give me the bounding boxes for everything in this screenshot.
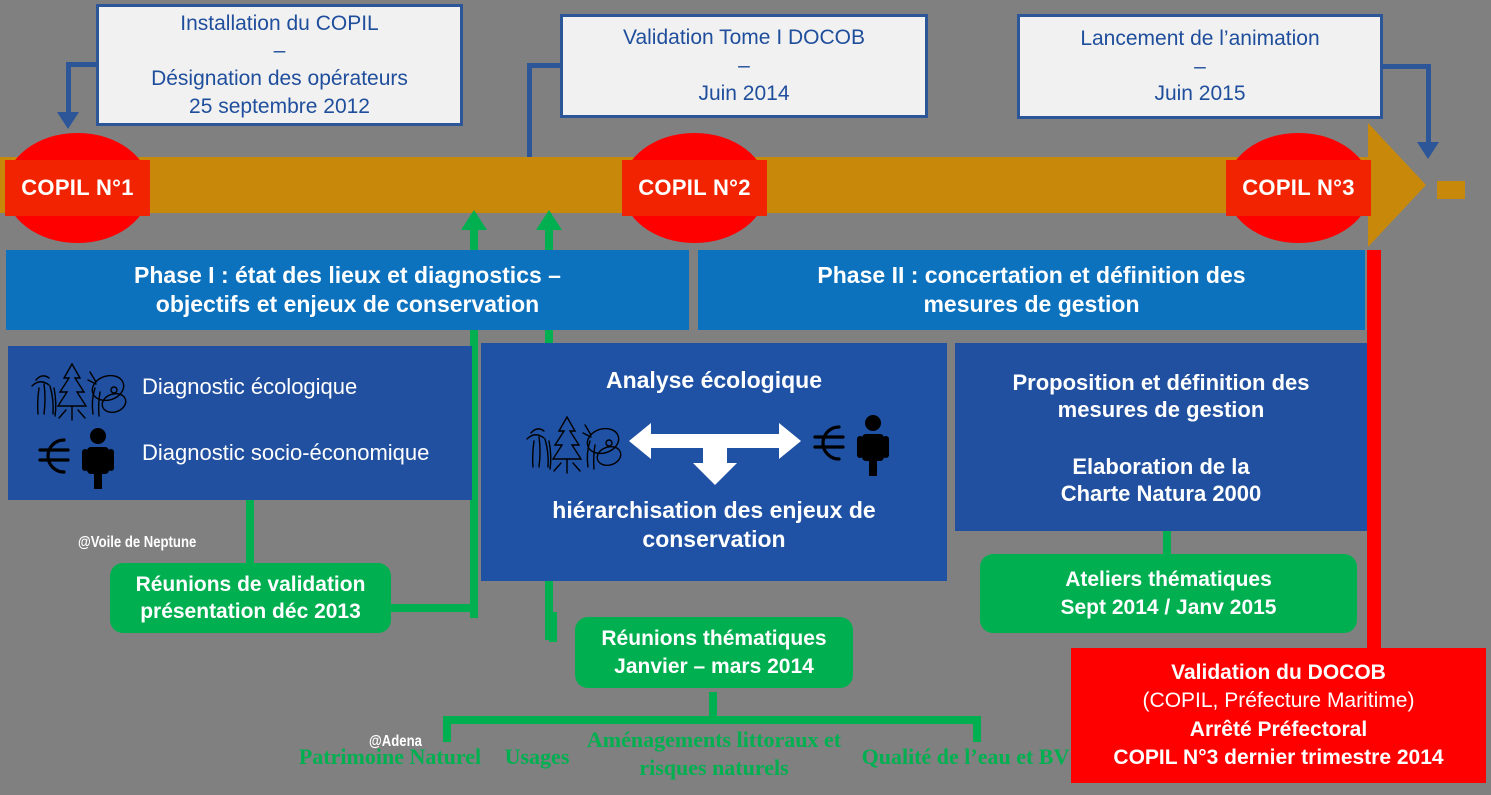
callout-3-line-1: Lancement de l’animation (1080, 25, 1319, 53)
phase-header-1[interactable]: Phase I : état des lieux et diagnostics … (6, 250, 689, 330)
milestone-copil-3[interactable]: COPIL N°3 (1226, 133, 1371, 243)
theme-bracket-right-tick (973, 716, 981, 742)
diagnostic-row-2: Diagnostic socio-économique (20, 424, 460, 490)
theme-label-amenagements: Aménagements littoraux et risques nature… (568, 726, 860, 781)
timeline-arrowhead-icon (1368, 123, 1426, 247)
diagnostic-row-1-label: Diagnostic écologique (142, 374, 357, 400)
callout-3-line-2: – (1080, 53, 1319, 81)
nature-sketch-icon (26, 358, 132, 424)
callout-1-line-3: Désignation des opérateurs (151, 65, 408, 93)
phase-2-line-1: Phase II : concertation et définition de… (817, 261, 1245, 290)
callout-box-1[interactable]: Installation du COPIL – Désignation des … (96, 4, 463, 126)
timeline-dashed-continuation (1437, 181, 1491, 190)
callout-1-line-2: – (151, 37, 408, 65)
analysis-bottom-line-1: hiérarchisation des enjeux de (481, 496, 947, 526)
connector-callout2-top (527, 63, 561, 68)
theme-bracket-left-tick (443, 716, 451, 742)
validation-line-4: COPIL N°3 dernier trimestre 2014 (1113, 744, 1443, 772)
euro-person-icon (26, 424, 132, 490)
measures-line-2: mesures de gestion (963, 396, 1359, 425)
milestone-3-label: COPIL N°3 (1242, 175, 1355, 201)
analysis-bottom-line-2: conservation (481, 525, 947, 555)
connector-validation-branch (388, 604, 478, 612)
green-arrow-2-head-icon (536, 210, 562, 230)
measures-line-4: Elaboration de la (963, 453, 1359, 482)
diagnostic-row-1: Diagnostic écologique (20, 358, 460, 424)
theme-label-3-line-1: Aménagements littoraux et (568, 726, 860, 754)
theme-bracket-stem (709, 692, 717, 720)
green-box-validation-meetings[interactable]: Réunions de validation présentation déc … (110, 563, 391, 633)
green-box-3-line-2: Sept 2014 / Janv 2015 (1061, 594, 1277, 621)
milestone-copil-1[interactable]: COPIL N°1 (5, 133, 150, 243)
callout-box-3[interactable]: Lancement de l’animation – Juin 2015 (1017, 14, 1383, 119)
green-box-thematic-meetings[interactable]: Réunions thématiques Janvier – mars 2014 (575, 617, 853, 688)
diagnostic-row-2-label: Diagnostic socio-économique (142, 440, 429, 466)
validation-docob-box[interactable]: Validation du DOCOB (COPIL, Préfecture M… (1071, 648, 1486, 783)
analysis-box[interactable]: Analyse écologique (481, 343, 947, 581)
green-arrow-1-head-icon (461, 210, 487, 230)
watermark-adena: @Adena (369, 733, 422, 751)
green-box-workshops[interactable]: Ateliers thématiques Sept 2014 / Janv 20… (980, 554, 1357, 633)
measures-box[interactable]: Proposition et définition des mesures de… (955, 343, 1367, 531)
diagnostic-box[interactable]: Diagnostic écologique (8, 346, 472, 500)
measures-line-5: Charte Natura 2000 (963, 480, 1359, 509)
green-box-2-line-1: Réunions thématiques (601, 625, 826, 652)
theme-label-4-line-1: Qualité de l’eau et BV (858, 743, 1073, 771)
callout-2-line-2: – (623, 52, 865, 80)
tee-double-arrow-icon (629, 415, 801, 485)
phase-1-line-2: objectifs et enjeux de conservation (134, 290, 561, 319)
milestone-1-label: COPIL N°1 (21, 175, 134, 201)
connector-validation-stem (246, 500, 254, 568)
callout-1-line-4: 25 septembre 2012 (151, 93, 408, 121)
green-box-1-line-1: Réunions de validation (136, 571, 366, 598)
connector-thematic-stem (549, 612, 557, 642)
theme-label-3-line-2: risques naturels (568, 754, 860, 782)
connector-callout1-vertical (66, 62, 71, 114)
green-box-1-line-2: présentation déc 2013 (136, 598, 366, 625)
callout-box-2[interactable]: Validation Tome I DOCOB – Juin 2014 (560, 14, 928, 118)
validation-line-1: Validation du DOCOB (1171, 659, 1386, 687)
validation-spine (1367, 250, 1381, 670)
connector-callout3-vertical (1426, 64, 1431, 144)
phase-1-line-1: Phase I : état des lieux et diagnostics … (134, 261, 561, 290)
connector-workshops-stem (1163, 531, 1171, 555)
connector-callout1-arrowhead-icon (57, 112, 79, 129)
validation-line-2: (COPIL, Préfecture Maritime) (1143, 687, 1415, 715)
measures-line-1: Proposition et définition des (963, 369, 1359, 398)
callout-3-line-3: Juin 2015 (1080, 80, 1319, 108)
phase-2-line-2: mesures de gestion (817, 290, 1245, 319)
callout-2-line-3: Juin 2014 (623, 80, 865, 108)
milestone-copil-2[interactable]: COPIL N°2 (622, 133, 767, 243)
connector-callout1-horizontal (66, 62, 100, 67)
green-box-2-line-2: Janvier – mars 2014 (601, 653, 826, 680)
connector-callout3-top (1381, 64, 1430, 69)
callout-1-line-1: Installation du COPIL (151, 10, 408, 38)
milestone-2-label: COPIL N°2 (638, 175, 751, 201)
phase-header-2[interactable]: Phase II : concertation et définition de… (698, 250, 1365, 330)
green-box-3-line-1: Ateliers thématiques (1061, 566, 1277, 593)
analysis-title: Analyse écologique (481, 366, 947, 396)
theme-label-qualite-eau: Qualité de l’eau et BV (858, 743, 1073, 771)
nature-sketch-icon (521, 411, 627, 477)
validation-line-3: Arrêté Préfectoral (1190, 716, 1367, 744)
euro-person-icon (801, 411, 907, 477)
diagram-canvas: Installation du COPIL – Désignation des … (0, 0, 1491, 795)
callout-2-line-1: Validation Tome I DOCOB (623, 24, 865, 52)
watermark-voile-de-neptune: @Voile de Neptune (78, 534, 196, 552)
